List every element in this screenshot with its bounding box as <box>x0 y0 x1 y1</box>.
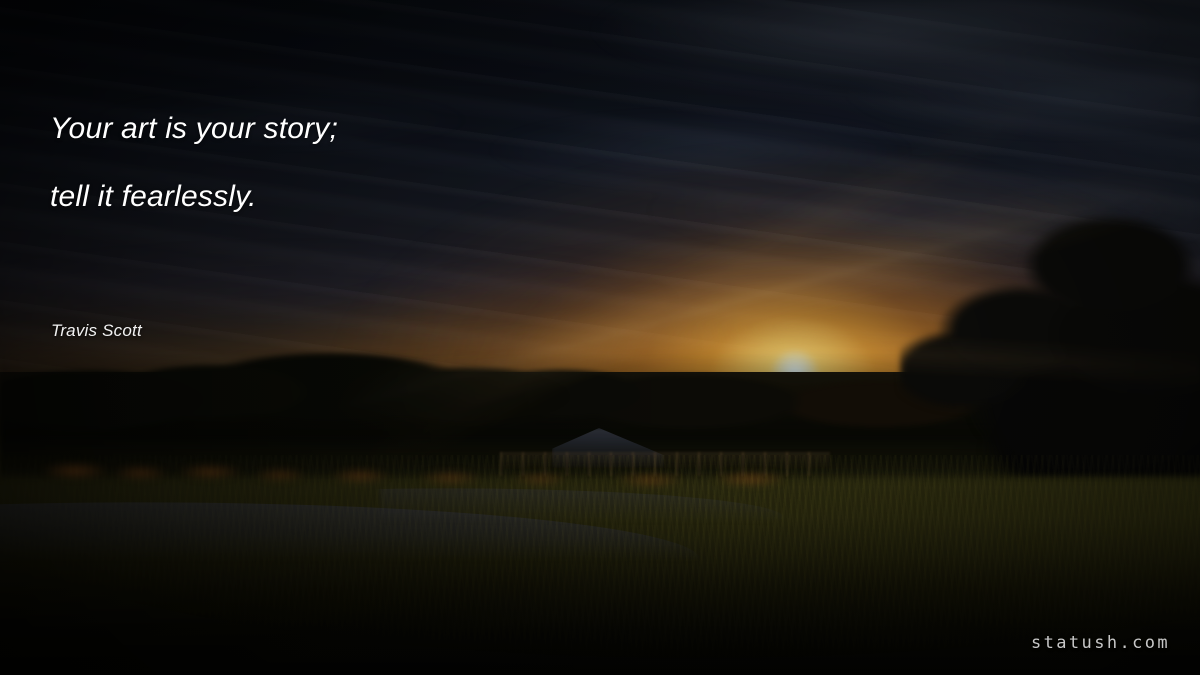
quote-line-1: Your art is your story; <box>50 114 670 144</box>
site-watermark: statush.com <box>1031 633 1170 653</box>
quote-text-block: Your art is your story; tell it fearless… <box>50 114 670 212</box>
quote-author: Travis Scott <box>51 321 142 341</box>
tree-silhouette <box>900 205 1200 475</box>
quote-image-card: Your art is your story; tell it fearless… <box>0 0 1200 675</box>
grass-texture <box>0 455 1200 675</box>
quote-line-2: tell it fearlessly. <box>50 182 670 212</box>
